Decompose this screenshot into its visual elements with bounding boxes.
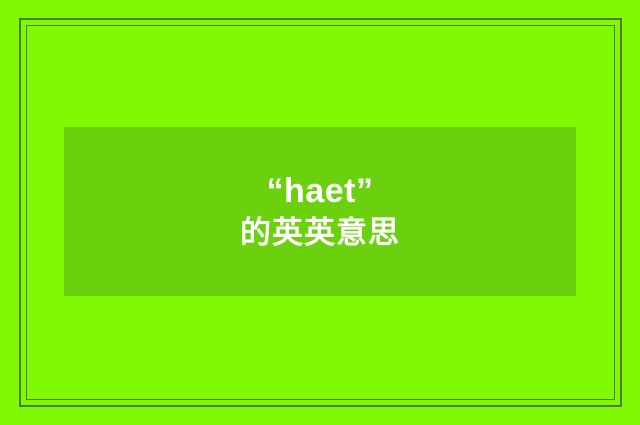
headline-term: “haet” [267,172,374,210]
card-canvas: “haet” 的英英意思 [0,0,640,425]
headline-description: 的英英意思 [240,216,400,251]
headline-panel: “haet” 的英英意思 [64,127,576,296]
